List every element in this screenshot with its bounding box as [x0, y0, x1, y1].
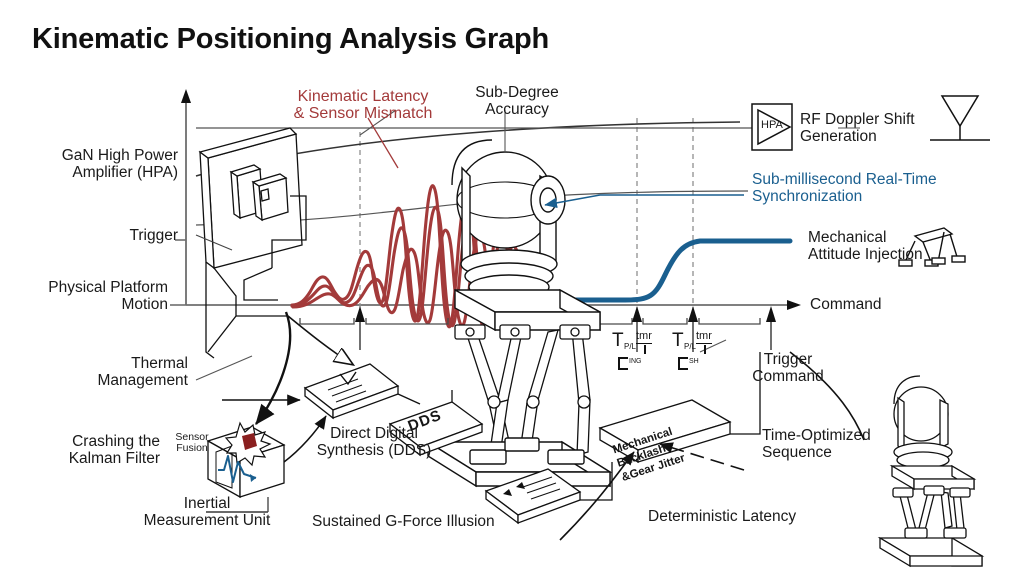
annotation-trigger-command: Trigger Command [736, 352, 840, 385]
axis-label-thermal-management: Thermal Management [10, 356, 188, 389]
timing-marker-1-stem [644, 345, 646, 354]
timing-marker-1-sub: P/L [624, 342, 636, 351]
annotation-deterministic-latency: Deterministic Latency [648, 509, 868, 526]
annotation-kinematic-latency: Kinematic Latency & Sensor Mismatch [278, 88, 448, 123]
timing-marker-2-foot-bot [678, 368, 688, 370]
annotation-sustained-g-force: Sustained G-Force Illusion [312, 514, 572, 531]
timing-marker-2-tail: SH [689, 358, 699, 365]
page-title: Kinematic Positioning Analysis Graph [32, 24, 549, 55]
timing-marker-1-sup: tmr [636, 330, 652, 344]
axis-label-crashing-kalman-filter: Crashing the Kalman Filter [10, 434, 160, 467]
axis-label-gan-hpa: GaN High Power Amplifier (HPA) [10, 148, 178, 181]
annotation-direct-digital-synthesis: Direct Digital Synthesis (DDS) [300, 426, 448, 459]
gimbal-assembly [452, 140, 565, 299]
right-platform-illustration [880, 376, 982, 566]
sync-leader-arrow [545, 195, 744, 205]
axis-label-command: Command [810, 297, 930, 314]
gan-hpa-board [200, 128, 302, 268]
axis-label-trigger: Trigger [10, 228, 178, 245]
arrow-platform-to-board [288, 316, 352, 364]
axis-label-imu: Inertial Measurement Unit [112, 496, 302, 529]
timing-marker-2-sup: tmr [696, 330, 712, 344]
timing-marker-2-main: T [672, 330, 684, 352]
annotation-time-optimized-sequence: Time-Optimized Sequence [762, 428, 942, 461]
diagram-canvas: Kinematic Positioning Analysis Graph GaN… [0, 0, 1024, 572]
annotation-sub-degree-accuracy: Sub-Degree Accuracy [452, 85, 582, 118]
timing-marker-1-main: T [612, 330, 624, 352]
timing-marker-2-stem [704, 345, 706, 354]
annotation-mechanical-attitude-injection: Mechanical Attitude Injection [808, 230, 958, 263]
signal-conditioning-board [305, 364, 398, 418]
sensor-fusion-label: Sensor Fusion [166, 432, 218, 454]
annotation-sub-ms-sync: Sub-millisecond Real-Time Synchronizatio… [752, 172, 1002, 205]
stewart-top-plate [455, 290, 600, 330]
timing-marker-1-tail: ING [629, 358, 641, 365]
timing-marker-2-sub: P/L [684, 342, 696, 351]
axis-label-physical-platform-motion: Physical Platform Motion [10, 280, 168, 313]
arrow-platform-to-imu [256, 312, 290, 424]
annotation-rf-doppler-shift: RF Doppler Shift Generation [800, 112, 970, 145]
y-axis-ticks [170, 240, 186, 305]
timing-marker-1-foot-bot [618, 368, 628, 370]
hpa-symbol-label: HPA [761, 120, 783, 132]
